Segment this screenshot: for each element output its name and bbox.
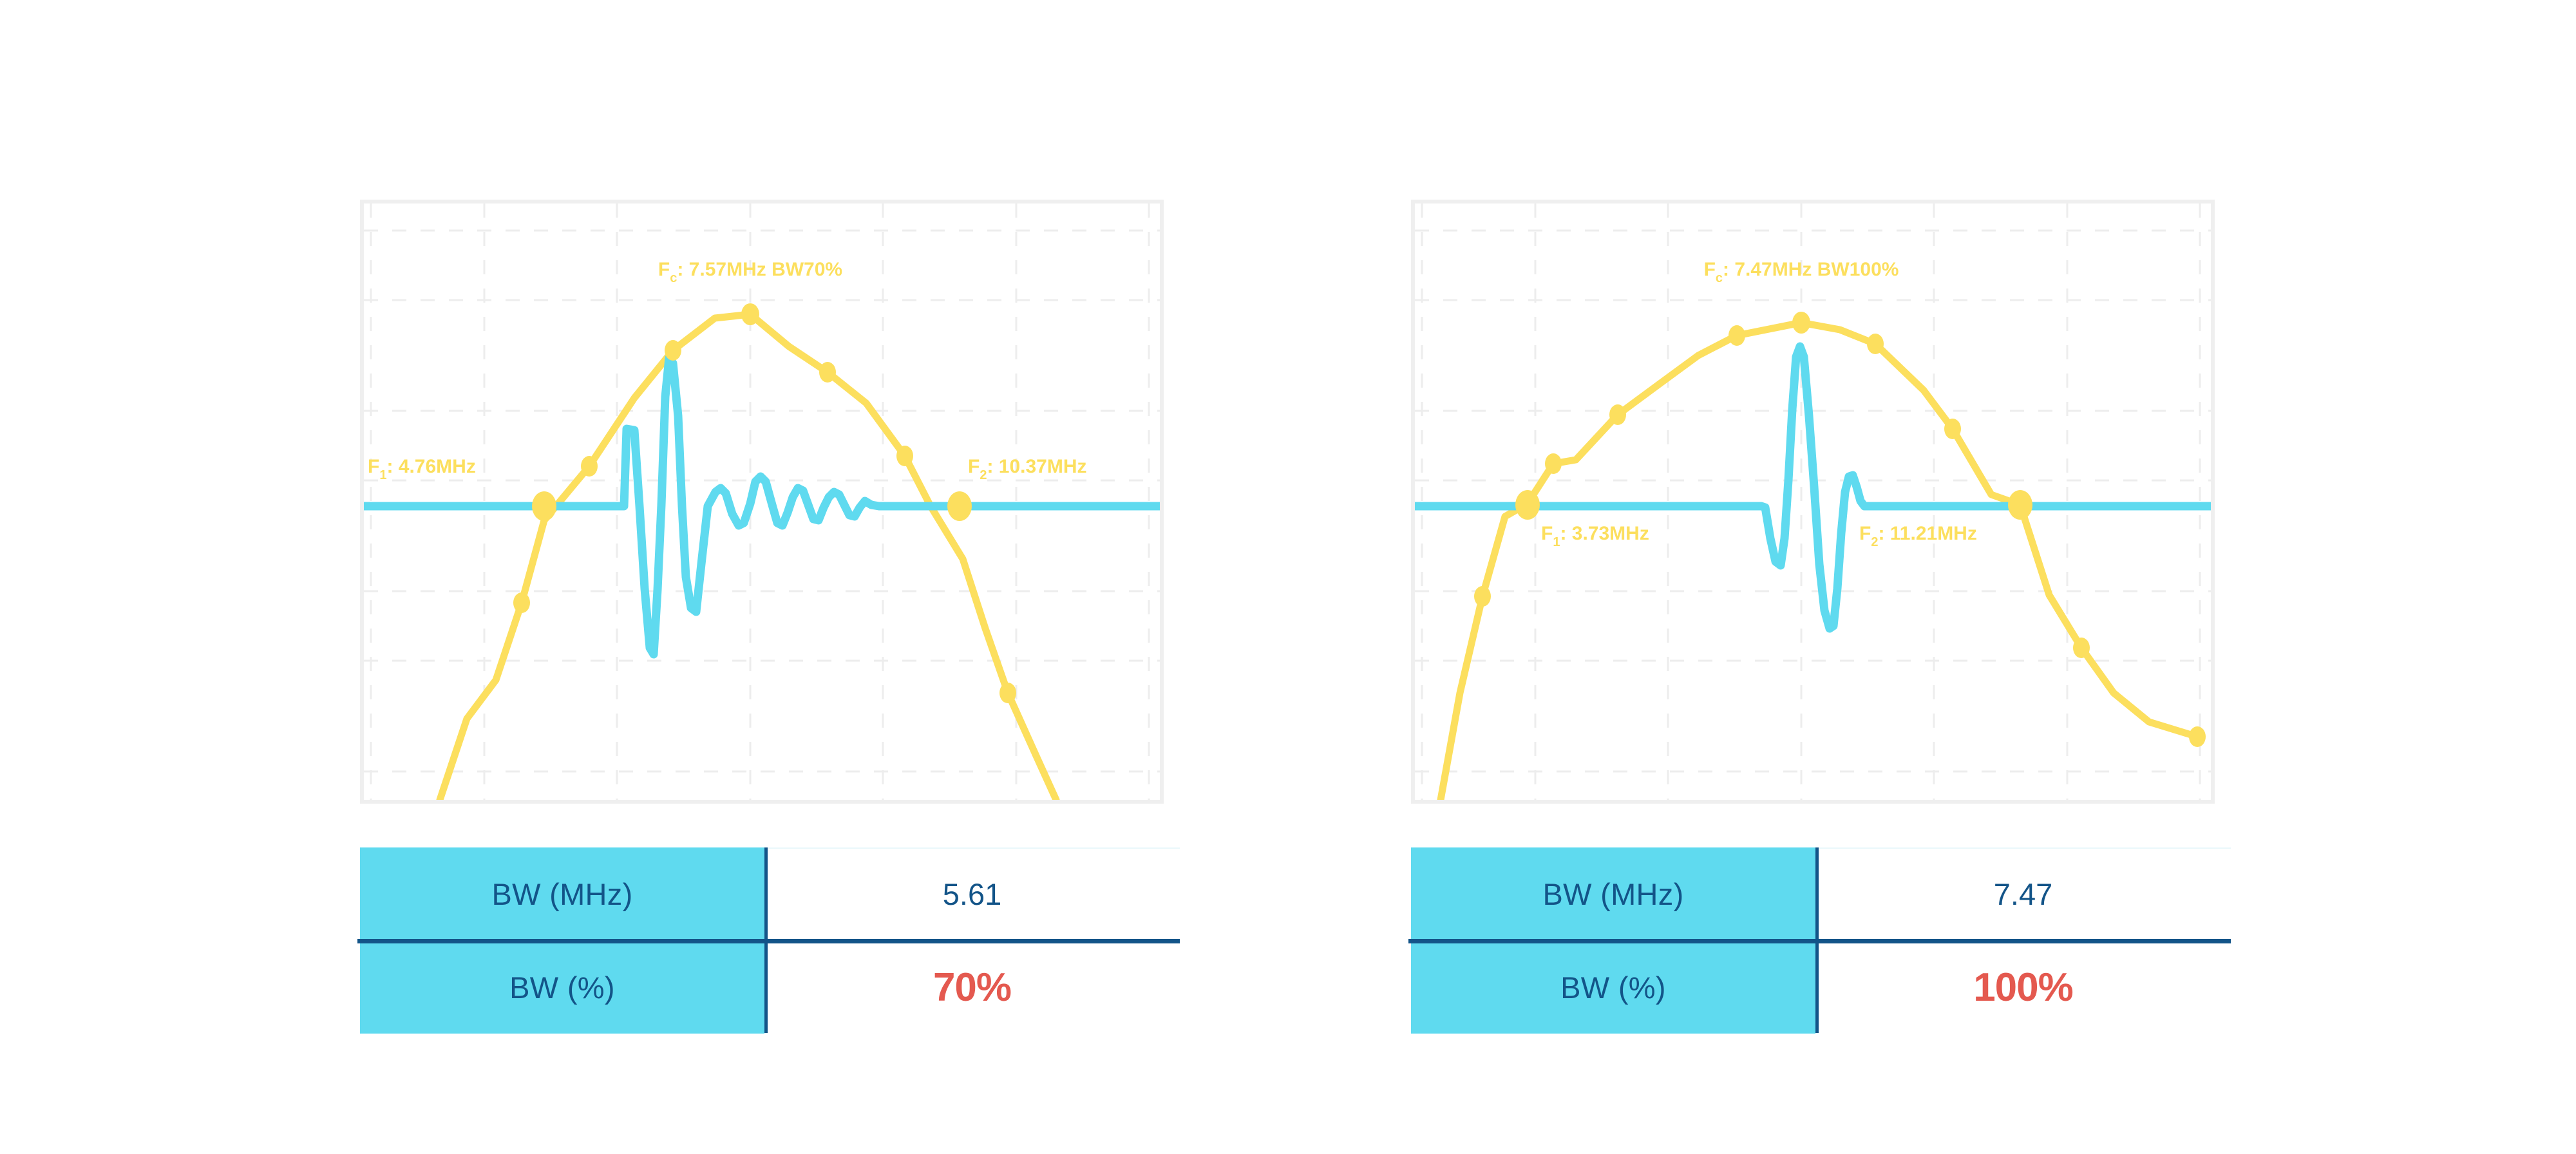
table-column-rule bbox=[1815, 847, 1819, 1033]
bw-table-bw70: BW (MHz) 5.61 BW (%) 70% bbox=[360, 847, 1180, 1033]
label-f2-text: : 11.21MHz bbox=[1878, 523, 1976, 544]
label-f2: F2: 11.21MHz bbox=[1859, 523, 1977, 549]
bw-table-bw100: BW (MHz) 7.47 BW (%) 100% bbox=[1411, 847, 2231, 1033]
label-fc-prefix: F bbox=[1704, 259, 1716, 280]
table-column-rule bbox=[764, 847, 768, 1033]
label-f2: F2: 10.37MHz bbox=[968, 456, 1087, 482]
label-f1-text: : 3.73MHz bbox=[1560, 523, 1649, 544]
table-row: BW (%) 100% bbox=[1411, 941, 2231, 1034]
table-row: BW (%) 70% bbox=[360, 941, 1180, 1034]
table-row: BW (MHz) 7.47 bbox=[1411, 847, 2231, 940]
marker-f2 bbox=[2008, 490, 2032, 520]
marker-f1 bbox=[1515, 490, 1540, 520]
table-header-cell: BW (%) bbox=[1411, 941, 1815, 1034]
chart-bw100: Fc: 7.47MHz BW100% F1: 3.73MHz F2: 11.21… bbox=[1415, 203, 2211, 800]
label-f1-prefix: F bbox=[1541, 523, 1553, 544]
label-fc-prefix: F bbox=[658, 259, 670, 280]
spectrum-curve bbox=[440, 314, 1056, 800]
figure-root: Fc: 7.57MHz BW70% F1: 4.76MHz F2: 10.37M… bbox=[0, 0, 2576, 1154]
marker-f2 bbox=[947, 491, 972, 521]
chart-bw70: Fc: 7.57MHz BW70% F1: 4.76MHz F2: 10.37M… bbox=[364, 203, 1160, 800]
label-fc: Fc: 7.47MHz BW100% bbox=[1704, 259, 1899, 285]
label-f2-text: : 10.37MHz bbox=[987, 456, 1086, 477]
table-header-cell: BW (MHz) bbox=[1411, 847, 1815, 940]
label-f1-sub: 1 bbox=[379, 468, 386, 482]
grid-lines bbox=[364, 203, 1160, 800]
label-f2-prefix: F bbox=[1859, 523, 1871, 544]
table-value-cell: 7.47 bbox=[1815, 847, 2231, 940]
table-header-cell: BW (%) bbox=[360, 941, 764, 1034]
label-f1-prefix: F bbox=[368, 456, 379, 477]
table-value-cell: 100% bbox=[1815, 941, 2231, 1034]
label-f1: F1: 3.73MHz bbox=[1541, 523, 1649, 549]
label-fc-text: : 7.57MHz BW70% bbox=[677, 259, 842, 280]
label-f2-sub: 2 bbox=[1871, 535, 1878, 549]
table-value-cell: 5.61 bbox=[764, 847, 1180, 940]
label-f1-sub: 1 bbox=[1553, 535, 1560, 549]
label-fc-text: : 7.47MHz BW100% bbox=[1723, 259, 1899, 280]
chart-frame-bw70: Fc: 7.57MHz BW70% F1: 4.76MHz F2: 10.37M… bbox=[360, 200, 1164, 804]
label-fc: Fc: 7.57MHz BW70% bbox=[658, 259, 842, 285]
marker-f1 bbox=[532, 491, 556, 521]
table-row: BW (MHz) 5.61 bbox=[360, 847, 1180, 940]
table-header-cell: BW (MHz) bbox=[360, 847, 764, 940]
table-middle-rule bbox=[1408, 939, 2231, 943]
table-middle-rule bbox=[357, 939, 1180, 943]
label-f2-sub: 2 bbox=[980, 468, 987, 482]
chart-frame-bw100: Fc: 7.47MHz BW100% F1: 3.73MHz F2: 11.21… bbox=[1411, 200, 2215, 804]
label-f1: F1: 4.76MHz bbox=[368, 456, 476, 482]
pulse-waveform bbox=[364, 358, 1160, 654]
table-value-cell: 70% bbox=[764, 941, 1180, 1034]
label-fc-sub: c bbox=[670, 271, 677, 285]
label-f2-prefix: F bbox=[968, 456, 980, 477]
label-fc-sub: c bbox=[1716, 271, 1723, 285]
label-f1-text: : 4.76MHz bbox=[386, 456, 475, 477]
